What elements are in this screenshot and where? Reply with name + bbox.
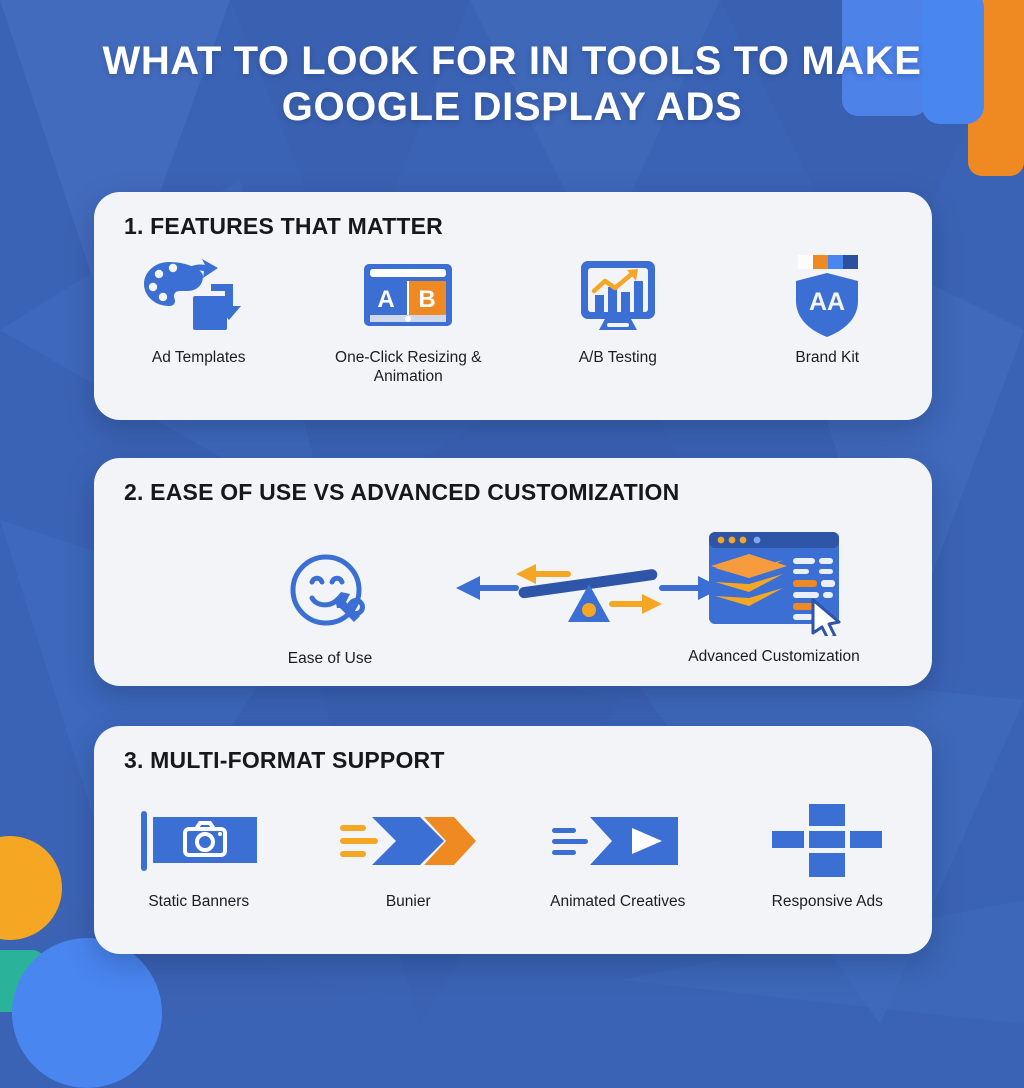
item-responsive-ads[interactable]: Responsive Ads xyxy=(723,798,933,911)
chevron-banner-icon xyxy=(338,798,478,884)
item-ad-templates[interactable]: Ad Templates xyxy=(94,254,304,387)
card3-heading: 3. MULTI-FORMAT SUPPORT xyxy=(124,746,445,775)
svg-text:A: A xyxy=(378,286,395,313)
shield-aa-icon: AA xyxy=(784,254,870,340)
item-label: One-Click Resizing & Animation xyxy=(304,348,514,387)
layers-window-cursor-icon xyxy=(674,528,874,641)
item-label: A/B Testing xyxy=(579,348,657,367)
card1-items: Ad Templates A B One-Click Resizing & An… xyxy=(94,254,932,387)
item-bunier[interactable]: Bunier xyxy=(304,798,514,911)
item-label: Bunier xyxy=(386,892,431,911)
card-features-that-matter: 1. FEATURES THAT MATTER Ad Templates xyxy=(94,192,932,420)
ab-resize-window-icon: A B xyxy=(360,254,456,340)
item-label: Ease of Use xyxy=(250,649,410,669)
item-label: Brand Kit xyxy=(795,348,859,367)
item-animated-creatives[interactable]: Animated Creatives xyxy=(513,798,723,911)
smiley-wrench-icon xyxy=(250,550,410,643)
item-advanced-customization[interactable]: Advanced Customization xyxy=(674,528,874,667)
item-label: Ad Templates xyxy=(152,348,246,367)
item-ease-of-use[interactable]: Ease of Use xyxy=(250,550,410,669)
card-multi-format-support: 3. MULTI-FORMAT SUPPORT Static Banners xyxy=(94,726,932,954)
page-title: WHAT TO LOOK FOR IN TOOLS TO MAKE GOOGLE… xyxy=(0,38,1024,130)
item-label: Static Banners xyxy=(148,892,249,911)
item-one-click-resizing[interactable]: A B One-Click Resizing & Animation xyxy=(304,254,514,387)
play-banner-icon xyxy=(550,798,686,884)
decor-circle-blue-bottom-left xyxy=(12,938,162,1088)
item-static-banners[interactable]: Static Banners xyxy=(94,798,304,911)
svg-text:AA: AA xyxy=(809,288,845,316)
card-ease-vs-customization: 2. EASE OF USE VS ADVANCED CUSTOMIZATION… xyxy=(94,458,932,686)
item-label: Advanced Customization xyxy=(674,647,874,667)
svg-text:B: B xyxy=(419,286,436,313)
item-label: Animated Creatives xyxy=(550,892,685,911)
card3-items: Static Banners Bunier xyxy=(94,798,932,911)
item-label: Responsive Ads xyxy=(772,892,883,911)
monitor-chart-icon xyxy=(575,254,661,340)
item-ab-testing[interactable]: A/B Testing xyxy=(513,254,723,387)
header: WHAT TO LOOK FOR IN TOOLS TO MAKE GOOGLE… xyxy=(0,38,1024,130)
palette-template-icon xyxy=(139,254,259,340)
responsive-blocks-icon xyxy=(771,798,883,884)
card2-heading: 2. EASE OF USE VS ADVANCED CUSTOMIZATION xyxy=(124,478,679,507)
banner-camera-icon xyxy=(137,798,261,884)
card1-heading: 1. FEATURES THAT MATTER xyxy=(124,212,443,241)
item-brand-kit[interactable]: AA Brand Kit xyxy=(723,254,933,387)
